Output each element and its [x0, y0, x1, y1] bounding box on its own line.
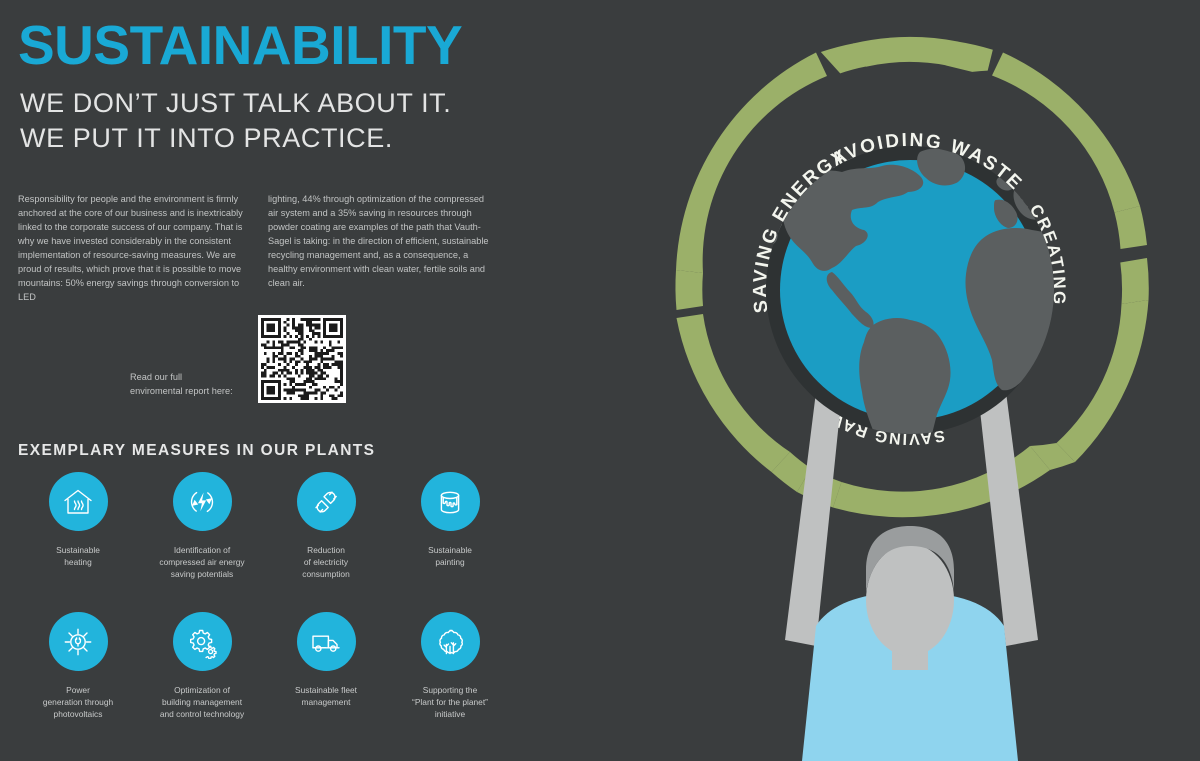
measures-grid: Sustainable heating: [16, 472, 512, 752]
measure-item-sustainable-painting[interactable]: Sustainable painting: [388, 472, 512, 612]
measure-icon-circle: [49, 472, 108, 531]
left-content-panel: SUSTAINABILITY WE DON’T JUST TALK ABOUT …: [0, 0, 640, 761]
measure-item-photovoltaics[interactable]: Power generation through photovoltaics: [16, 612, 140, 752]
measure-item-electricity-reduction[interactable]: Reduction of electricity consumption: [264, 472, 388, 612]
measure-icon-circle: [297, 472, 356, 531]
electric-plug-icon: [309, 485, 343, 519]
delivery-truck-icon: [309, 625, 343, 659]
measure-item-sustainable-heating[interactable]: Sustainable heating: [16, 472, 140, 612]
measure-label: Sustainable fleet management: [267, 684, 385, 708]
measure-label: Optimization of building management and …: [143, 684, 261, 721]
measure-label: Power generation through photovoltaics: [19, 684, 137, 721]
measure-label: Sustainable heating: [19, 544, 137, 568]
measure-icon-circle: [173, 612, 232, 671]
intro-paragraph-right: lighting, 44% through optimization of th…: [268, 193, 496, 305]
measure-label: Supporting the “Plant for the planet” in…: [391, 684, 509, 721]
qr-caption: Read our full enviromental report here:: [130, 371, 240, 403]
qr-report-block[interactable]: Read our full enviromental report here:: [130, 315, 346, 403]
paint-bucket-icon: [433, 485, 467, 519]
measure-icon-circle: [173, 472, 232, 531]
measures-section-title: EXEMPLARY MEASURES IN OUR PLANTS: [18, 442, 375, 460]
intro-text-columns: Responsibility for people and the enviro…: [18, 184, 496, 314]
measure-label: Reduction of electricity consumption: [267, 544, 385, 581]
measure-label: Identification of compressed air energy …: [143, 544, 261, 581]
house-heating-icon: [61, 485, 95, 519]
qr-code-icon[interactable]: [258, 315, 346, 403]
person-holding-globe: [785, 392, 1038, 761]
measure-item-building-management[interactable]: Optimization of building management and …: [140, 612, 264, 752]
sustainability-cycle-panel: SAVING ENERGY AVOIDING WASTE: [620, 0, 1200, 761]
qr-caption-line-1: Read our full: [130, 371, 240, 385]
measure-item-fleet-management[interactable]: Sustainable fleet management: [264, 612, 388, 752]
page-subtitle: WE DON’T JUST TALK ABOUT IT. WE PUT IT I…: [20, 86, 451, 155]
qr-caption-line-2: enviromental report here:: [130, 385, 240, 399]
measure-icon-circle: [421, 612, 480, 671]
intro-paragraph-left: Responsibility for people and the enviro…: [18, 193, 246, 305]
gears-icon: [185, 625, 219, 659]
sustainability-infographic: SUSTAINABILITY WE DON’T JUST TALK ABOUT …: [0, 0, 1200, 761]
subtitle-line-2: WE PUT IT INTO PRACTICE.: [20, 121, 451, 156]
trees-icon: [433, 625, 467, 659]
measure-item-plant-for-the-planet[interactable]: Supporting the “Plant for the planet” in…: [388, 612, 512, 752]
solar-power-icon: [61, 625, 95, 659]
measure-icon-circle: [49, 612, 108, 671]
compressed-air-energy-icon: [185, 485, 219, 519]
measure-icon-circle: [297, 612, 356, 671]
subtitle-line-1: WE DON’T JUST TALK ABOUT IT.: [20, 86, 451, 121]
cycle-diagram: SAVING ENERGY AVOIDING WASTE: [620, 0, 1200, 761]
page-title: SUSTAINABILITY: [18, 18, 462, 73]
measure-label: Sustainable painting: [391, 544, 509, 568]
measure-item-compressed-air[interactable]: Identification of compressed air energy …: [140, 472, 264, 612]
measure-icon-circle: [421, 472, 480, 531]
